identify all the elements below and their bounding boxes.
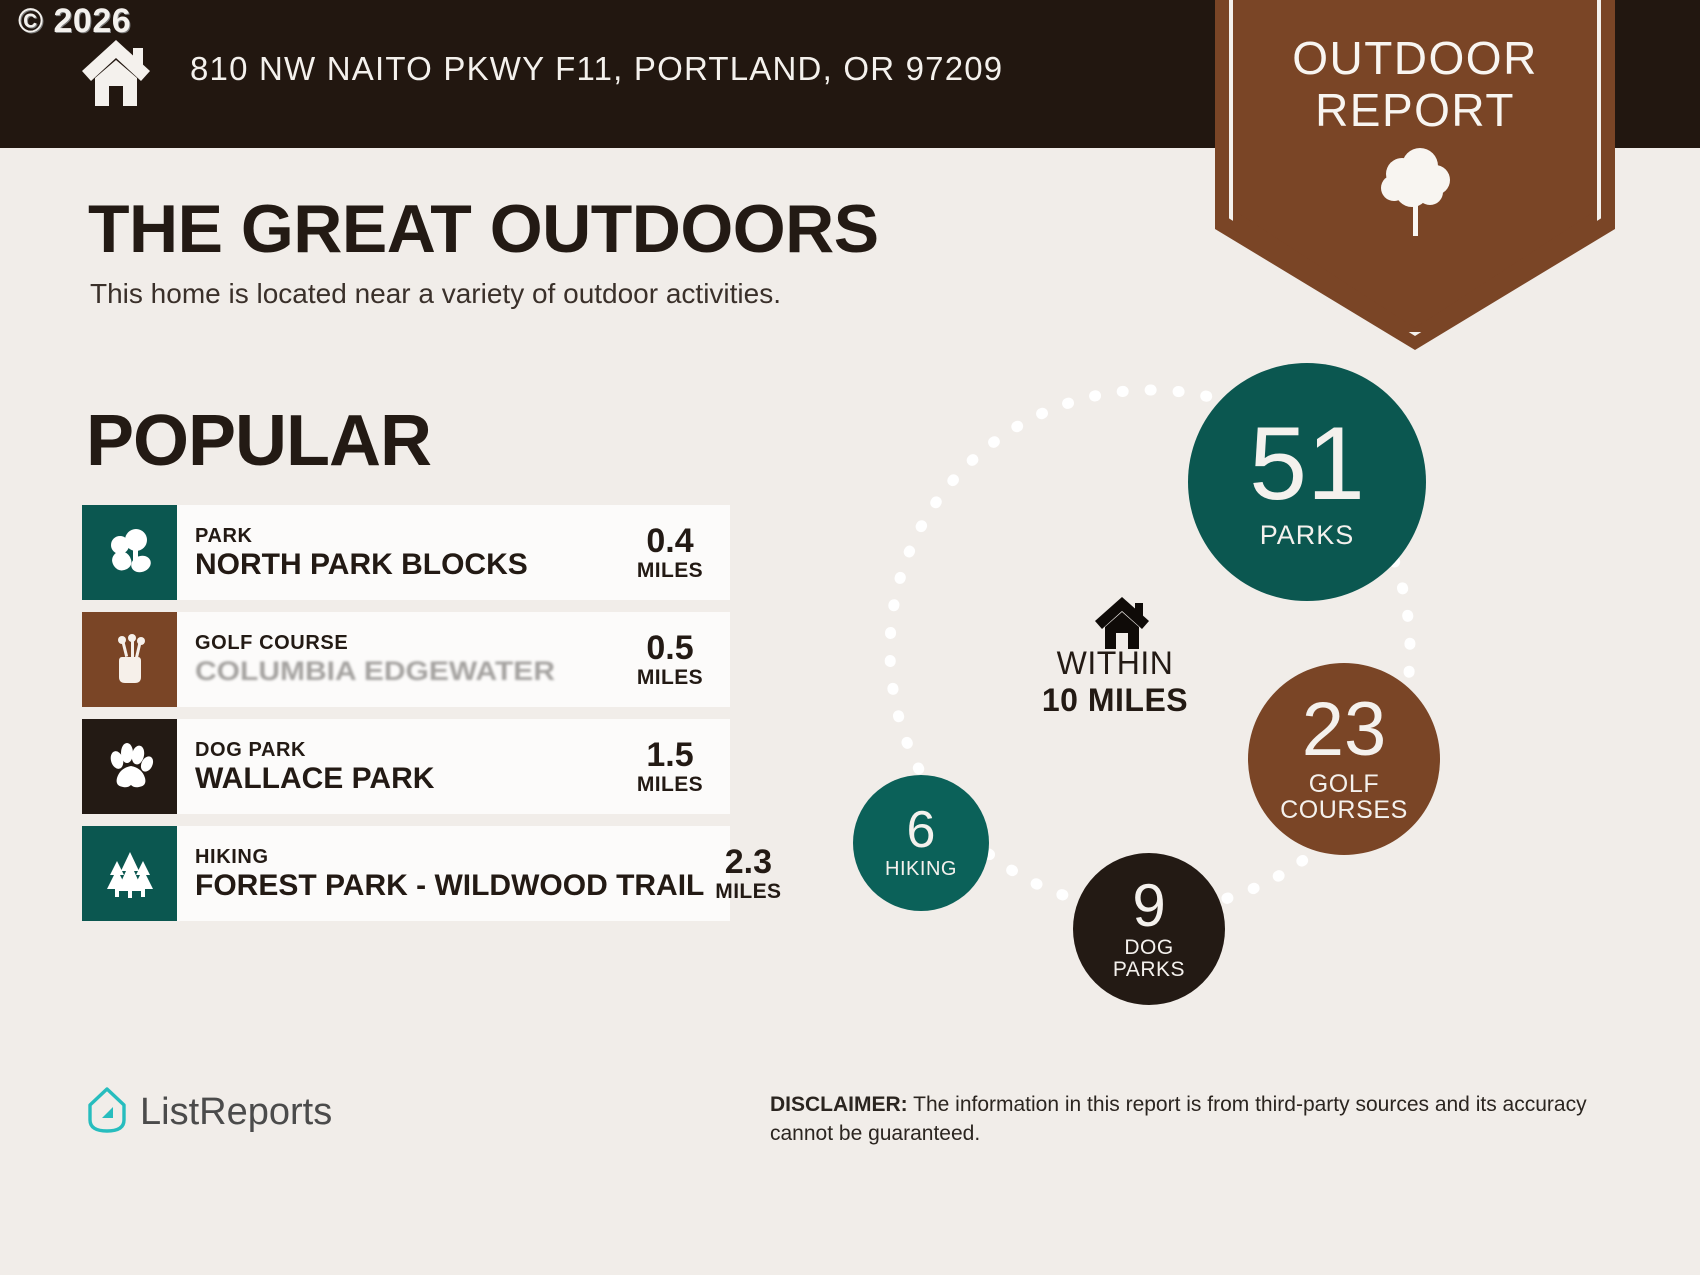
list-item-distance: 1.5 MILES <box>626 737 714 797</box>
list-item-distance: 0.5 MILES <box>626 630 714 690</box>
distance-value: 0.4 <box>626 523 714 559</box>
list-item-text: DOG PARK WALLACE PARK <box>195 738 434 796</box>
popular-heading: POPULAR <box>86 400 431 482</box>
distance-value: 0.5 <box>626 630 714 666</box>
copyright-watermark: © 2026 <box>18 2 131 41</box>
bubble-hiking-value: 6 <box>907 806 936 856</box>
bubble-dog-parks[interactable]: 9 DOG PARKS <box>1073 853 1225 1005</box>
bubble-dog-label-line2: PARKS <box>1113 959 1185 981</box>
popular-list: PARK NORTH PARK BLOCKS 0.4 MILES <box>82 505 730 933</box>
park-trees-icon <box>82 505 177 600</box>
page-title: THE GREAT OUTDOORS <box>88 190 879 268</box>
pine-trees-icon <box>82 826 177 921</box>
list-item-category: DOG PARK <box>195 738 434 762</box>
list-item-text: HIKING FOREST PARK - WILDWOOD TRAIL <box>195 845 704 903</box>
badge-title-line1: OUTDOOR <box>1215 32 1615 84</box>
outdoor-report-badge: OUTDOOR REPORT <box>1215 0 1615 350</box>
disclaimer: DISCLAIMER: The information in this repo… <box>770 1090 1650 1148</box>
list-item-body: DOG PARK WALLACE PARK 1.5 MILES <box>177 719 730 814</box>
paw-print-icon <box>82 719 177 814</box>
list-item-name: WALLACE PARK <box>195 762 434 796</box>
list-item-name: FOREST PARK - WILDWOOD TRAIL <box>195 869 704 903</box>
bubble-dog-label-line1: DOG <box>1113 937 1185 959</box>
bubble-hiking[interactable]: 6 HIKING <box>853 775 989 911</box>
list-item[interactable]: PARK NORTH PARK BLOCKS 0.4 MILES <box>82 505 730 600</box>
diagram-center-label: WITHIN 10 MILES <box>970 645 1260 719</box>
distance-value: 2.3 <box>704 844 792 880</box>
list-item-name: NORTH PARK BLOCKS <box>195 548 528 582</box>
list-item-body: HIKING FOREST PARK - WILDWOOD TRAIL 2.3 … <box>177 826 808 921</box>
bubble-parks-value: 51 <box>1249 415 1365 515</box>
bubble-parks-label: PARKS <box>1260 521 1355 549</box>
distance-unit: MILES <box>626 666 714 690</box>
bubble-dog-value: 9 <box>1132 877 1165 935</box>
list-item-name: COLUMBIA EDGEWATER <box>195 656 555 687</box>
listreports-logo[interactable]: ListReports <box>86 1086 332 1139</box>
listreports-logo-text: ListReports <box>140 1091 332 1134</box>
bubble-golf-label-line1: GOLF <box>1280 771 1408 797</box>
list-item-category: PARK <box>195 524 528 548</box>
badge-title-line2: REPORT <box>1215 84 1615 136</box>
list-item[interactable]: GOLF COURSE COLUMBIA EDGEWATER 0.5 MILES <box>82 612 730 707</box>
property-address: 810 NW NAITO PKWY F11, PORTLAND, OR 9720… <box>190 50 1003 88</box>
list-item-text: PARK NORTH PARK BLOCKS <box>195 524 528 582</box>
tree-icon <box>1372 144 1458 245</box>
distance-unit: MILES <box>626 773 714 797</box>
distance-unit: MILES <box>626 559 714 583</box>
list-item-category: GOLF COURSE <box>195 631 555 655</box>
bubble-dog-label: DOG PARKS <box>1113 937 1185 981</box>
distance-value: 1.5 <box>626 737 714 773</box>
center-label-line1: WITHIN <box>970 645 1260 681</box>
distance-unit: MILES <box>704 880 792 904</box>
list-item-category: HIKING <box>195 845 704 869</box>
bubble-parks[interactable]: 51 PARKS <box>1188 363 1426 601</box>
bubble-golf-label-line2: COURSES <box>1280 797 1408 823</box>
page-subtitle: This home is located near a variety of o… <box>90 278 781 310</box>
list-item-body: GOLF COURSE COLUMBIA EDGEWATER 0.5 MILES <box>177 612 730 707</box>
list-item-body: PARK NORTH PARK BLOCKS 0.4 MILES <box>177 505 730 600</box>
bubble-golf-label: GOLF COURSES <box>1280 771 1408 824</box>
list-item[interactable]: DOG PARK WALLACE PARK 1.5 MILES <box>82 719 730 814</box>
list-item-text: GOLF COURSE COLUMBIA EDGEWATER <box>195 631 555 689</box>
list-item[interactable]: HIKING FOREST PARK - WILDWOOD TRAIL 2.3 … <box>82 826 730 921</box>
bubble-golf-value: 23 <box>1302 694 1387 767</box>
badge-title: OUTDOOR REPORT <box>1215 32 1615 136</box>
bubble-hiking-label: HIKING <box>885 859 957 880</box>
listreports-pin-icon <box>86 1086 128 1139</box>
golf-bag-icon <box>82 612 177 707</box>
amenities-circle-diagram: 51 PARKS 23 GOLF COURSES 9 DOG PARKS 6 H… <box>820 345 1500 1005</box>
center-label-line2: 10 MILES <box>970 681 1260 719</box>
disclaimer-label: DISCLAIMER: <box>770 1093 908 1116</box>
bubble-golf-courses[interactable]: 23 GOLF COURSES <box>1248 663 1440 855</box>
house-icon <box>78 38 154 113</box>
list-item-distance: 0.4 MILES <box>626 523 714 583</box>
list-item-distance: 2.3 MILES <box>704 844 792 904</box>
